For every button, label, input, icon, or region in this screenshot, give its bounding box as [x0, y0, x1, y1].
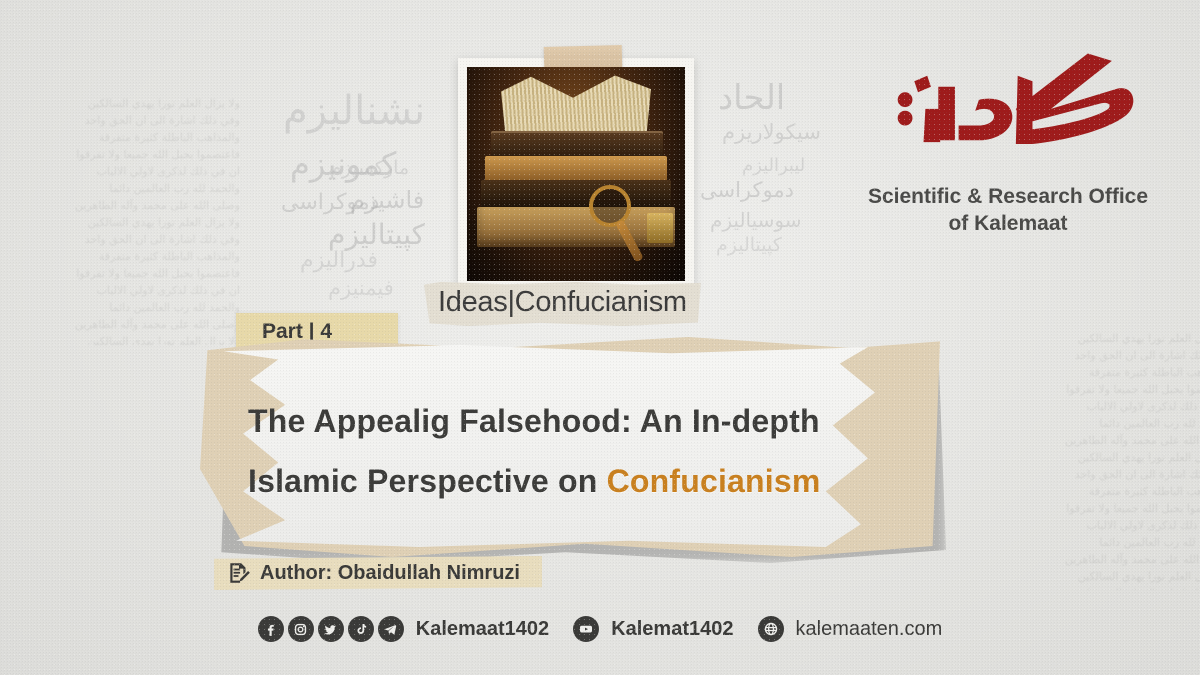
author-label: Author: Obaidullah Nimruzi: [260, 562, 520, 585]
social-handle-label: Kalemaat1402: [416, 618, 549, 641]
book-stack-photo: [467, 67, 685, 281]
book-1: [491, 131, 663, 157]
magnifying-glass: [589, 185, 631, 227]
logo-caption-line-1: Scientific & Research Office: [838, 183, 1178, 210]
category-strip-label: Ideas|Confucianism: [438, 286, 687, 318]
instagram-icon[interactable]: [288, 616, 314, 642]
poster-canvas: ولا يزال العلم نورا يهدي السالكينوفي ذلك…: [0, 0, 1200, 675]
bg-word-capitalism-r: کپیتالیزم: [716, 234, 782, 256]
footer-bar: Kalemaat1402 Kalemat1402 kalemaaten.com: [0, 616, 1200, 642]
book-2: [485, 156, 667, 181]
logo-caption-line-2: of Kalemaat: [838, 210, 1178, 237]
note-pencil-icon: [226, 560, 252, 586]
book-3: [481, 180, 671, 208]
bg-word-democracy-r: دموکراسی: [700, 178, 794, 202]
book-clasp: [647, 213, 673, 243]
youtube-icon[interactable]: [573, 616, 599, 642]
manuscript-watermark-right: ولا يزال العلم نورا يهدي السالكينوفي ذلك…: [1040, 330, 1200, 590]
book-4: [477, 207, 675, 247]
bg-word-capitalism-l: کپیتالیزم: [328, 218, 425, 251]
globe-icon[interactable]: [758, 616, 784, 642]
author-bar: Author: Obaidullah Nimruzi: [214, 556, 542, 590]
youtube-group: Kalemat1402: [573, 616, 757, 642]
title-line-2: Islamic Perspective on Confucianism: [248, 451, 888, 511]
bg-word-marxism: مارکسیزم: [330, 157, 409, 179]
tiktok-icon[interactable]: [348, 616, 374, 642]
brand-logo: Scientific & Research Office of Kalemaat: [838, 48, 1178, 237]
manuscript-watermark-left: ولا يزال العلم نورا يهدي السالكينوفي ذلك…: [0, 95, 240, 345]
title-line-1: The Appealig Falsehood: An In-depth: [248, 391, 888, 451]
website-label: kalemaaten.com: [796, 618, 943, 641]
bg-word-nationalism: نشنالیزم: [283, 88, 425, 134]
open-book-pages: [501, 73, 651, 135]
title-text-block: The Appealig Falsehood: An In-depth Isla…: [248, 391, 888, 511]
category-strip: Ideas|Confucianism: [424, 282, 701, 326]
title-card: The Appealig Falsehood: An In-depth Isla…: [200, 337, 940, 557]
bg-word-socialism: سوسیالیزم: [710, 208, 802, 232]
telegram-icon[interactable]: [378, 616, 404, 642]
bg-word-federalism: فدرالیزم: [300, 248, 378, 273]
twitter-icon[interactable]: [318, 616, 344, 642]
bg-word-feminism: فیمنیزم: [328, 276, 394, 300]
title-highlight-word: Confucianism: [607, 463, 821, 499]
bg-word-secularism: سیکولاریزم: [722, 120, 821, 144]
logo-caption: Scientific & Research Office of Kalemaat: [838, 183, 1178, 237]
social-handles-group: Kalemaat1402: [258, 616, 573, 642]
bg-word-atheism: الحاد: [718, 78, 785, 118]
website-group: kalemaaten.com: [758, 616, 943, 642]
book-photo-card: [458, 58, 694, 290]
bg-word-liberalism: لیبرالیزم: [742, 155, 805, 176]
youtube-handle-label: Kalemat1402: [611, 618, 733, 641]
facebook-icon[interactable]: [258, 616, 284, 642]
bg-word-fascism: فاشیزم: [350, 186, 424, 214]
title-line-2-main: Islamic Perspective on: [248, 463, 607, 499]
kalemaat-calligraphy-logo: [870, 48, 1147, 168]
